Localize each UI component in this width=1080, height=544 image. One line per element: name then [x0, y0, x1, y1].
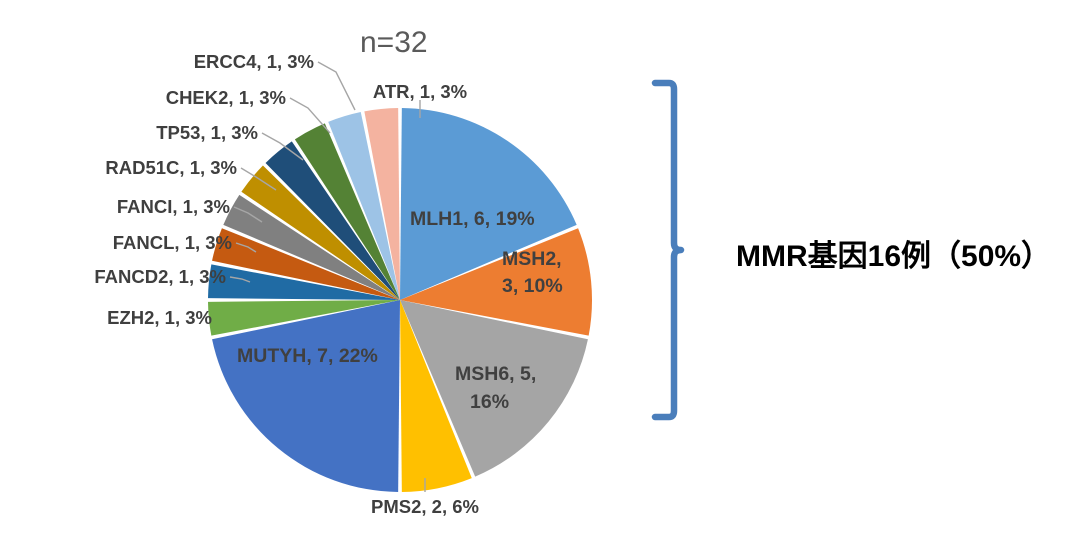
- slice-label-fancl: FANCL, 1, 3%: [113, 232, 232, 253]
- slice-label-ercc4: ERCC4, 1, 3%: [194, 51, 314, 72]
- slide-canvas: MLH1, 6, 19% MSH2, 3, 10% MSH6, 5, 16% M…: [0, 0, 1080, 544]
- slice-label-mlh1: MLH1, 6, 19%: [410, 208, 535, 230]
- slice-label-tp53: TP53, 1, 3%: [156, 122, 258, 143]
- pie-slice-group: [208, 108, 592, 492]
- sample-size-note: n=32: [360, 26, 428, 59]
- slice-label-pms2: PMS2, 2, 6%: [371, 496, 479, 517]
- slice-label-fancd2: FANCD2, 1, 3%: [94, 266, 226, 287]
- slice-label-msh6-line1: MSH6, 5,: [455, 363, 536, 385]
- slice-label-msh6-line2: 16%: [470, 391, 509, 413]
- slice-label-msh2-line1: MSH2,: [502, 248, 562, 270]
- slice-label-msh2-line2: 3, 10%: [502, 275, 563, 297]
- mmr-group-annotation: MMR基因16例（50%）: [736, 239, 1051, 273]
- slice-label-mutyh: MUTYH, 7, 22%: [237, 345, 378, 367]
- slice-label-chek2: CHEK2, 1, 3%: [166, 87, 286, 108]
- slice-label-fanci: FANCI, 1, 3%: [117, 196, 230, 217]
- leader-line-ercc4: [318, 62, 355, 110]
- slice-label-rad51c: RAD51C, 1, 3%: [105, 157, 237, 178]
- group-bracket: [655, 83, 681, 417]
- slice-label-ezh2: EZH2, 1, 3%: [107, 307, 212, 328]
- pie-chart-figure: MLH1, 6, 19% MSH2, 3, 10% MSH6, 5, 16% M…: [0, 0, 1080, 544]
- slice-label-atr: ATR, 1, 3%: [373, 81, 467, 102]
